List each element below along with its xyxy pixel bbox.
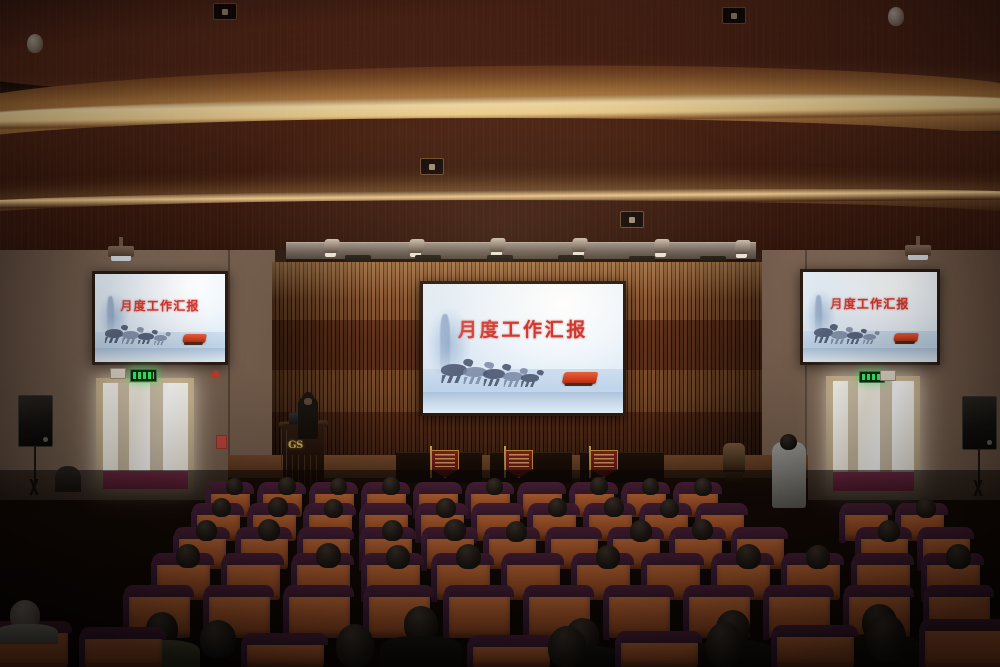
smoke-detector-icon: [888, 7, 904, 26]
audience-head: [226, 478, 243, 495]
audience-head: [548, 498, 567, 517]
audience-head: [444, 519, 466, 541]
center-projection-screen: 月度工作汇报: [420, 281, 626, 416]
emergency-exit-sign-left: [130, 369, 157, 382]
stage-spotlight-icon: [571, 238, 588, 253]
audience-head: [866, 614, 906, 661]
audience-head: [196, 520, 217, 541]
audience-head: [386, 545, 410, 569]
left-projection-screen: 月度工作汇报: [92, 271, 228, 365]
audience-head: [258, 519, 280, 541]
left-screen-surface: 月度工作汇报: [95, 274, 225, 362]
audience-head: [736, 544, 761, 569]
seat[interactable]: [84, 632, 162, 667]
right-screen-surface: 月度工作汇报: [803, 272, 937, 362]
audience-head: [596, 545, 620, 569]
slide-truck-art: [893, 333, 919, 342]
ceiling-fixture-icon: [620, 211, 644, 228]
stage-spotlight-icon: [734, 240, 751, 255]
seated-attendee-side: [55, 466, 81, 492]
stage-spotlight-icon: [653, 239, 670, 254]
seat[interactable]: [246, 638, 324, 667]
slide-horse: [137, 333, 154, 340]
seat[interactable]: [776, 630, 854, 667]
slide-truck-art: [182, 334, 207, 343]
stage-spotlight-icon: [489, 238, 506, 253]
audience-head: [382, 520, 403, 541]
ceiling-fixture-icon: [213, 3, 237, 20]
audience-shoulders: [0, 624, 58, 644]
audience-head: [642, 478, 659, 495]
seat[interactable]: [448, 590, 510, 638]
audience-head: [268, 497, 288, 517]
standing-attendee-head: [780, 434, 797, 450]
audience-head: [436, 498, 456, 518]
slide-horse: [153, 335, 167, 341]
audience-head: [456, 544, 481, 569]
audience-head: [316, 543, 341, 568]
audience-head: [486, 478, 503, 495]
podium-logo: GS: [288, 440, 303, 451]
audience-head: [278, 477, 296, 495]
audience-head: [694, 478, 712, 496]
audience-head: [176, 544, 200, 568]
ceiling-fixture-icon: [420, 158, 444, 175]
smoke-detector-icon: [27, 34, 43, 53]
audience-head: [806, 545, 830, 569]
audience-head: [548, 626, 586, 667]
slide-horse: [520, 374, 539, 382]
slide-title-left: 月度工作汇报: [95, 297, 225, 314]
standing-attendee-body: [772, 442, 806, 508]
pa-speaker-right: [962, 396, 997, 450]
audience-head: [200, 620, 236, 658]
audience-head: [336, 624, 374, 667]
pa-speaker-left: [18, 395, 53, 447]
audience-head: [590, 477, 608, 495]
emergency-light-box: [110, 368, 126, 379]
stage-spotlight-icon: [323, 239, 340, 254]
audience-head: [916, 498, 936, 518]
audience-head: [630, 520, 652, 542]
audience-head: [660, 499, 679, 518]
fire-alarm-icon: [212, 371, 219, 378]
audience-head: [604, 497, 624, 517]
audience-head: [324, 499, 343, 518]
door-pillar: [880, 381, 892, 483]
door-pillar: [150, 383, 163, 481]
audience-head: [946, 544, 971, 569]
door-pillar: [118, 383, 129, 483]
slide-title-right: 月度工作汇报: [803, 295, 937, 312]
audience-head: [506, 521, 527, 542]
audience-head: [212, 498, 231, 517]
center-screen-surface: 月度工作汇报: [423, 284, 623, 413]
audience-head: [706, 622, 743, 667]
stage-chair: [723, 443, 745, 473]
emergency-light-box: [880, 370, 896, 381]
projector-right-icon: [905, 245, 931, 256]
fire-extinguisher-box-icon: [216, 435, 227, 449]
audience-shoulders: [380, 636, 462, 667]
audience-head: [692, 519, 713, 540]
projector-left-icon: [108, 246, 134, 257]
ceiling-fixture-icon: [722, 7, 746, 24]
seat[interactable]: [620, 636, 698, 667]
seat[interactable]: [472, 640, 550, 667]
stage-spotlight-icon: [408, 239, 425, 254]
right-projection-screen: 月度工作汇报: [800, 269, 940, 365]
slide-truck-art: [562, 372, 598, 384]
audience-head: [382, 477, 400, 495]
audience-head: [878, 520, 900, 542]
seat[interactable]: [924, 624, 1000, 667]
presenter-face: [304, 398, 312, 405]
slide-title-center: 月度工作汇报: [423, 315, 623, 342]
audience-head: [330, 478, 347, 495]
auditorium-photo: 月度工作汇报 月度工作汇报 月: [0, 0, 1000, 667]
